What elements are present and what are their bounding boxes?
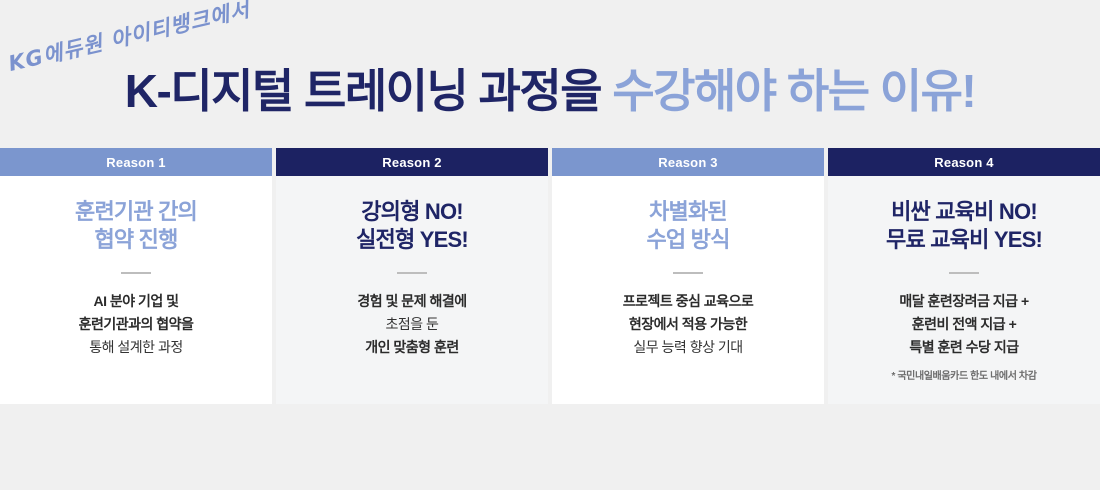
reason-card-header: Reason 4 <box>828 148 1100 176</box>
reason-card-description-line: 매달 훈련장려금 지급 + <box>899 290 1028 313</box>
reason-card-body: 비싼 교육비 NO!무료 교육비 YES!매달 훈련장려금 지급 +훈련비 전액… <box>828 176 1100 404</box>
reason-card-description-line: 프로젝트 중심 교육으로 <box>623 290 754 313</box>
reason-card-description-line: 훈련비 전액 지급 + <box>899 313 1028 336</box>
reason-card-body: 훈련기관 간의협약 진행AI 분야 기업 및훈련기관과의 협약을통해 설계한 과… <box>0 176 272 404</box>
reason-card-header: Reason 3 <box>552 148 824 176</box>
reason-card-header: Reason 2 <box>276 148 548 176</box>
reason-card-3[interactable]: Reason 3차별화된수업 방식프로젝트 중심 교육으로현장에서 적용 가능한… <box>552 148 824 404</box>
reason-card-description-line: 훈련기관과의 협약을 <box>79 313 194 336</box>
reason-card-title: 강의형 NO!실전형 YES! <box>356 198 468 254</box>
reason-card-title-line: 강의형 NO! <box>361 199 463 224</box>
reason-card-body: 강의형 NO!실전형 YES!경험 및 문제 해결에초점을 둔개인 맞춤형 훈련 <box>276 176 548 404</box>
reason-card-title-line: 비싼 교육비 NO! <box>891 199 1037 224</box>
page-title-primary: K-디지털 트레이닝 과정을 <box>125 65 601 117</box>
page-title-accent: 수강해야 하는 이유! <box>612 65 975 117</box>
reason-card-description-line: 초점을 둔 <box>357 313 466 336</box>
reason-card-title-line: 협약 진행 <box>94 227 177 252</box>
reason-card-description: 프로젝트 중심 교육으로현장에서 적용 가능한실무 능력 향상 기대 <box>623 290 754 358</box>
reason-card-description-line: 경험 및 문제 해결에 <box>357 290 466 313</box>
reason-card-description-line: 개인 맞춤형 훈련 <box>357 336 466 359</box>
reason-card-description-line: 특별 훈련 수당 지급 <box>899 336 1028 359</box>
reason-card-description: 경험 및 문제 해결에초점을 둔개인 맞춤형 훈련 <box>357 290 466 358</box>
divider <box>673 272 703 274</box>
reason-card-description: AI 분야 기업 및훈련기관과의 협약을통해 설계한 과정 <box>79 290 194 358</box>
reason-card-description-line: 실무 능력 향상 기대 <box>623 336 754 359</box>
reason-card-description-line: AI 분야 기업 및 <box>79 290 194 313</box>
reason-card-row: Reason 1훈련기관 간의협약 진행AI 분야 기업 및훈련기관과의 협약을… <box>0 148 1100 404</box>
reason-card-title: 훈련기관 간의협약 진행 <box>75 198 197 254</box>
reason-card-1[interactable]: Reason 1훈련기관 간의협약 진행AI 분야 기업 및훈련기관과의 협약을… <box>0 148 272 404</box>
reason-card-header: Reason 1 <box>0 148 272 176</box>
reason-card-description: 매달 훈련장려금 지급 +훈련비 전액 지급 +특별 훈련 수당 지급 <box>899 290 1028 358</box>
reason-card-description-line: 통해 설계한 과정 <box>79 336 194 359</box>
reason-card-title: 차별화된수업 방식 <box>646 198 729 254</box>
page-title: K-디지털 트레이닝 과정을 수강해야 하는 이유! <box>0 68 1100 114</box>
reason-card-title-line: 실전형 YES! <box>356 227 468 252</box>
reason-card-body: 차별화된수업 방식프로젝트 중심 교육으로현장에서 적용 가능한실무 능력 향상… <box>552 176 824 404</box>
reason-card-description-line: 현장에서 적용 가능한 <box>623 313 754 336</box>
reason-card-title: 비싼 교육비 NO!무료 교육비 YES! <box>886 198 1042 254</box>
divider <box>397 272 427 274</box>
reason-card-title-line: 차별화된 <box>649 199 727 224</box>
reason-card-title-line: 무료 교육비 YES! <box>886 227 1042 252</box>
promo-banner: KG에듀원 아이티뱅크에서 K-디지털 트레이닝 과정을 수강해야 하는 이유!… <box>0 0 1100 490</box>
reason-card-title-line: 훈련기관 간의 <box>75 199 197 224</box>
divider <box>121 272 151 274</box>
divider <box>949 272 979 274</box>
reason-card-2[interactable]: Reason 2강의형 NO!실전형 YES!경험 및 문제 해결에초점을 둔개… <box>276 148 548 404</box>
headline-zone: KG에듀원 아이티뱅크에서 K-디지털 트레이닝 과정을 수강해야 하는 이유! <box>0 0 1100 148</box>
reason-card-footnote: * 국민내일배움카드 한도 내에서 차감 <box>891 367 1036 382</box>
reason-card-4[interactable]: Reason 4비싼 교육비 NO!무료 교육비 YES!매달 훈련장려금 지급… <box>828 148 1100 404</box>
reason-card-title-line: 수업 방식 <box>646 227 729 252</box>
